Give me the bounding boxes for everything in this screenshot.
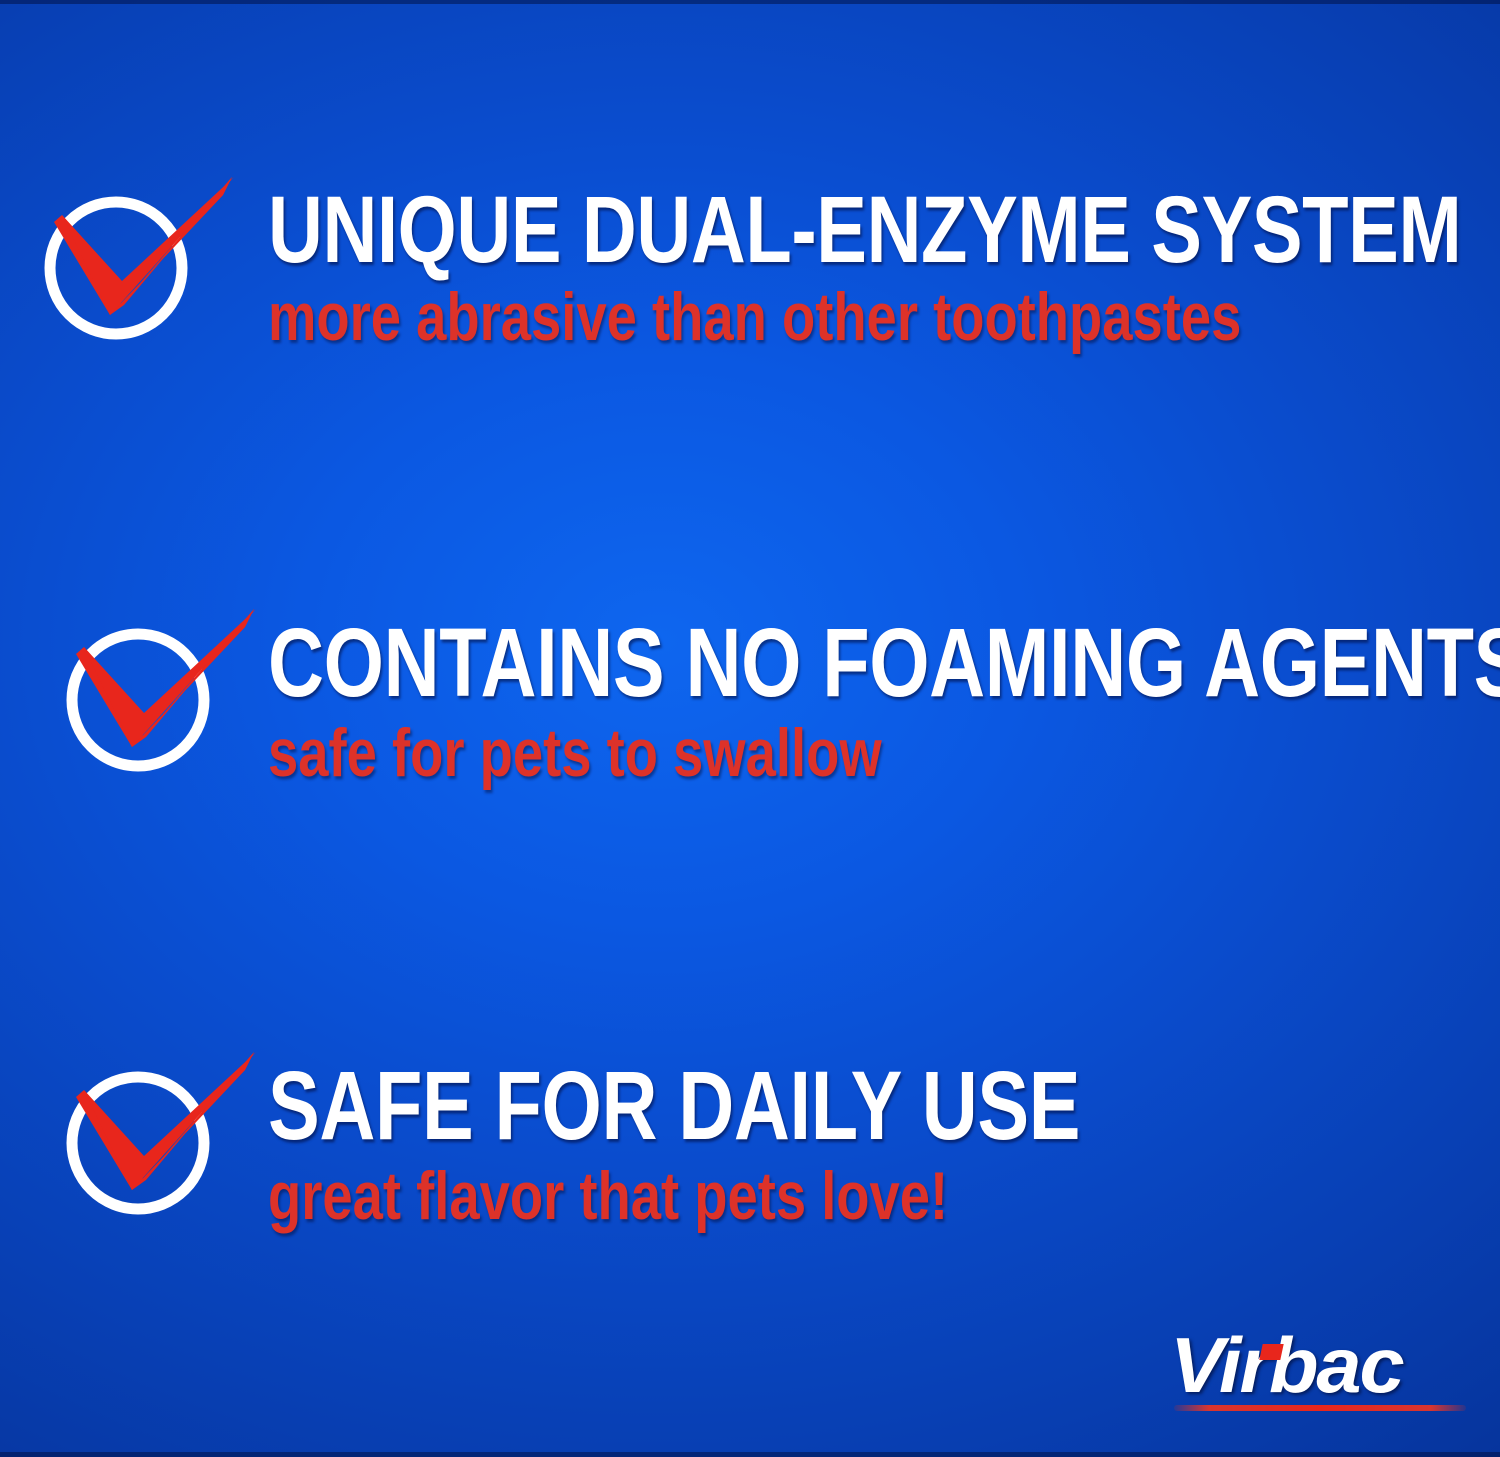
feature-text-2: CONTAINS NO FOAMING AGENTS safe for pets…	[268, 617, 1480, 787]
feature-subline: safe for pets to swallow	[268, 719, 1238, 787]
brand-underline-rule	[1174, 1405, 1466, 1411]
feature-subline: great flavor that pets love!	[268, 1162, 1238, 1230]
product-feature-panel: UNIQUE DUAL-ENZYME SYSTEM more abrasive …	[0, 0, 1500, 1457]
check-circle-icon	[38, 177, 248, 367]
virbac-logo: Virbac	[1170, 1332, 1470, 1422]
bottom-edge-line	[0, 1452, 1500, 1457]
top-edge-line	[0, 0, 1500, 4]
feature-row-1: UNIQUE DUAL-ENZYME SYSTEM more abrasive …	[0, 185, 1500, 425]
feature-headline: CONTAINS NO FOAMING AGENTS	[268, 617, 1238, 709]
check-circle-icon	[60, 609, 270, 799]
feature-subline: more abrasive than other toothpastes	[268, 283, 1238, 351]
brand-wordmark: Virbac	[1170, 1326, 1403, 1404]
brand-accent-dot	[1259, 1344, 1283, 1360]
feature-row-3: SAFE FOR DAILY USE great flavor that pet…	[0, 1060, 1500, 1300]
feature-headline: UNIQUE DUAL-ENZYME SYSTEM	[268, 185, 1238, 275]
feature-text-1: UNIQUE DUAL-ENZYME SYSTEM more abrasive …	[268, 185, 1480, 351]
feature-text-3: SAFE FOR DAILY USE great flavor that pet…	[268, 1060, 1480, 1230]
feature-row-2: CONTAINS NO FOAMING AGENTS safe for pets…	[0, 617, 1500, 857]
feature-headline: SAFE FOR DAILY USE	[268, 1060, 1238, 1152]
check-circle-icon	[60, 1052, 270, 1242]
